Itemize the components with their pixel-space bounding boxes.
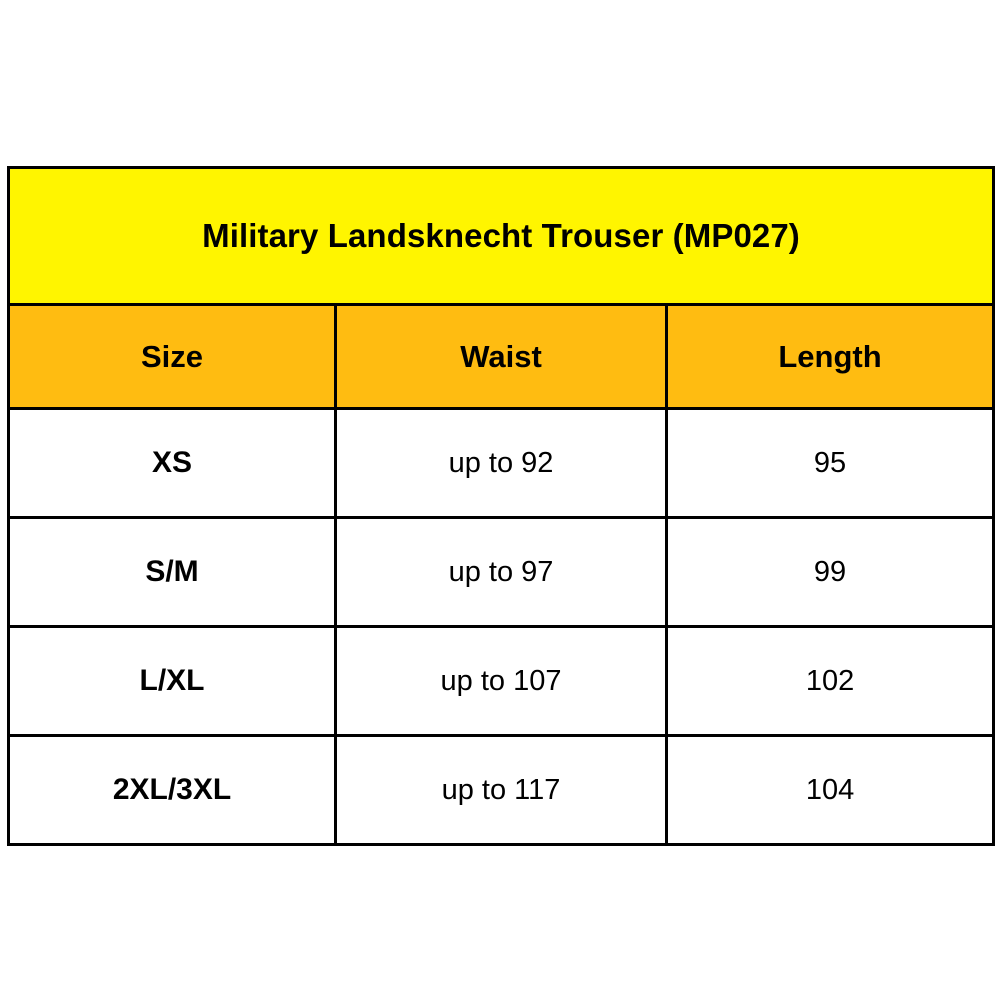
cell-waist: up to 97: [336, 518, 667, 627]
table-row: 2XL/3XL up to 117 104: [9, 736, 994, 845]
cell-length: 102: [667, 627, 994, 736]
table-row: L/XL up to 107 102: [9, 627, 994, 736]
cell-length: 95: [667, 409, 994, 518]
cell-size: XS: [9, 409, 336, 518]
chart-title: Military Landsknecht Trouser (MP027): [9, 168, 994, 305]
cell-length: 99: [667, 518, 994, 627]
column-header-length: Length: [667, 305, 994, 409]
cell-size: 2XL/3XL: [9, 736, 336, 845]
cell-size: L/XL: [9, 627, 336, 736]
size-chart-page: Military Landsknecht Trouser (MP027) Siz…: [0, 0, 1000, 1000]
cell-length: 104: [667, 736, 994, 845]
table-body: XS up to 92 95 S/M up to 97 99 L/XL up t…: [9, 409, 994, 845]
table-row: XS up to 92 95: [9, 409, 994, 518]
cell-size: S/M: [9, 518, 336, 627]
table-head: Military Landsknecht Trouser (MP027) Siz…: [9, 168, 994, 409]
column-header-size: Size: [9, 305, 336, 409]
column-header-waist: Waist: [336, 305, 667, 409]
cell-waist: up to 92: [336, 409, 667, 518]
size-chart-table: Military Landsknecht Trouser (MP027) Siz…: [7, 166, 995, 846]
header-row: Size Waist Length: [9, 305, 994, 409]
title-row: Military Landsknecht Trouser (MP027): [9, 168, 994, 305]
cell-waist: up to 117: [336, 736, 667, 845]
table-row: S/M up to 97 99: [9, 518, 994, 627]
cell-waist: up to 107: [336, 627, 667, 736]
